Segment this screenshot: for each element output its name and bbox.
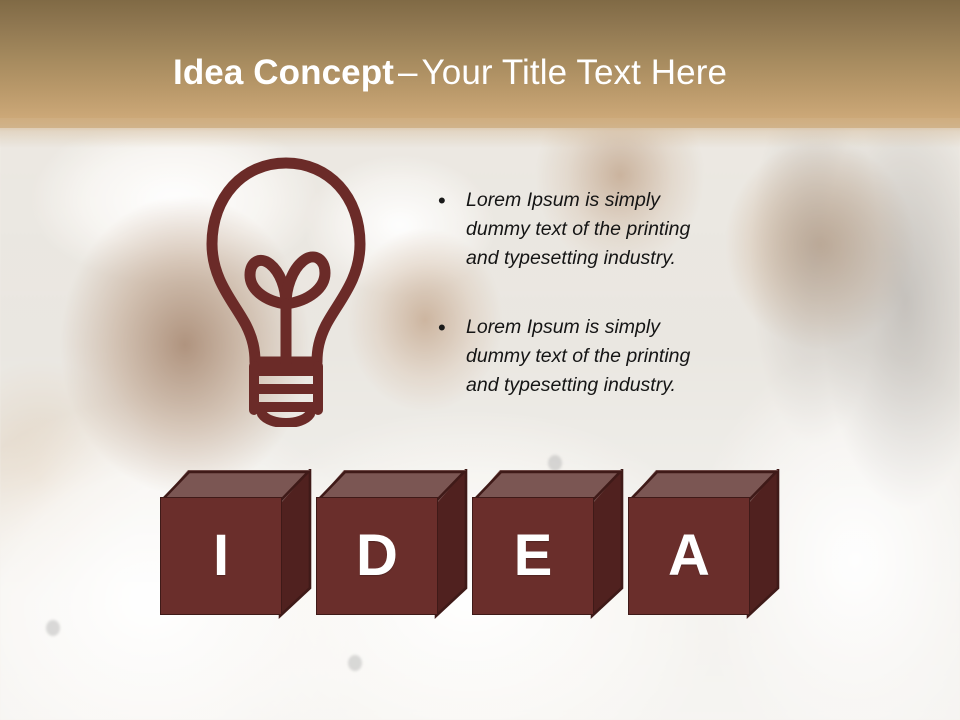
slide-title-rest: Your Title Text Here xyxy=(422,53,728,92)
slide-title: Idea Concept–Your Title Text Here xyxy=(173,52,727,94)
idea-cube: D xyxy=(316,470,466,620)
cube-letter: I xyxy=(160,497,282,615)
list-item: • Lorem Ipsum is simply dummy text of th… xyxy=(433,313,763,400)
lightbulb-icon xyxy=(196,152,376,427)
cube-letter: D xyxy=(316,497,438,615)
slide-title-separator: – xyxy=(394,53,422,92)
cube-letter: E xyxy=(472,497,594,615)
bullet-marker: • xyxy=(433,313,466,343)
idea-cube: I xyxy=(160,470,310,620)
idea-cube: A xyxy=(628,470,778,620)
bullet-text: Lorem Ipsum is simply dummy text of the … xyxy=(466,313,728,400)
idea-cube: E xyxy=(472,470,622,620)
slide-title-bold: Idea Concept xyxy=(173,53,394,92)
list-item: • Lorem Ipsum is simply dummy text of th… xyxy=(433,186,763,273)
header-fade xyxy=(0,118,960,148)
coat-button xyxy=(348,655,362,671)
coat-button xyxy=(548,455,562,471)
idea-cube-group: I D E xyxy=(160,470,780,620)
coat-button xyxy=(46,620,60,636)
cube-letter: A xyxy=(628,497,750,615)
bullet-list: • Lorem Ipsum is simply dummy text of th… xyxy=(433,186,763,440)
bullet-text: Lorem Ipsum is simply dummy text of the … xyxy=(466,186,728,273)
bullet-marker: • xyxy=(433,186,466,216)
presentation-slide: Idea Concept–Your Title Text Here xyxy=(0,0,960,720)
